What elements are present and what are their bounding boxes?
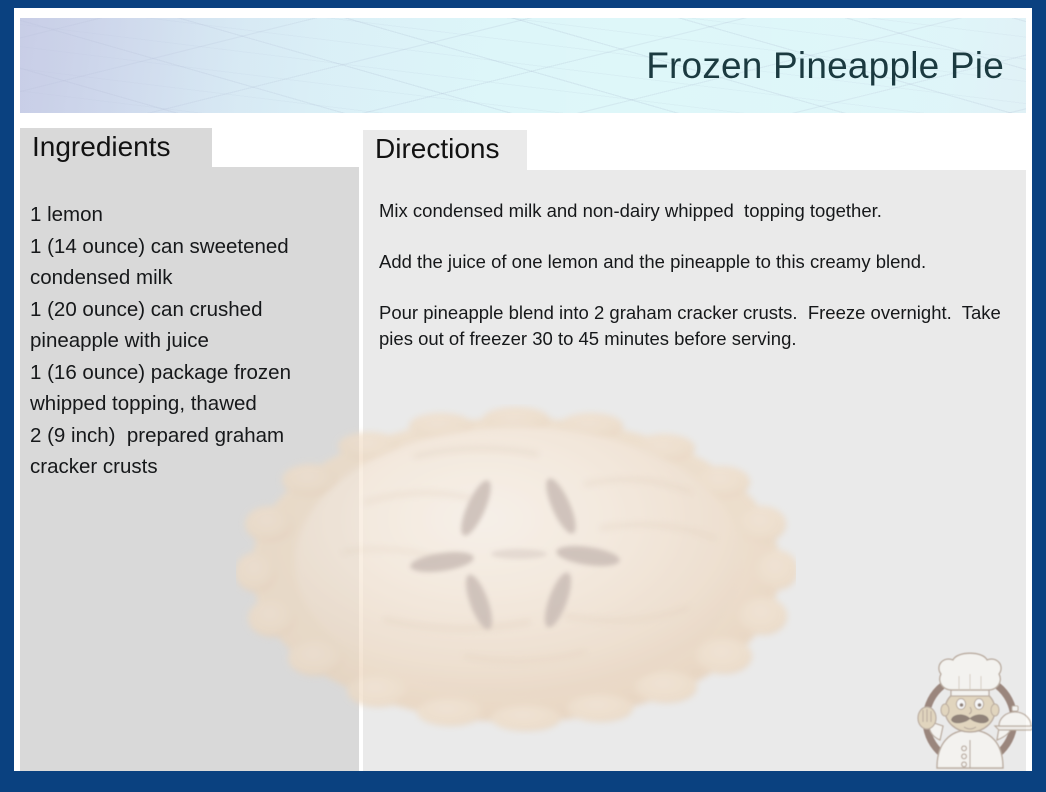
direction-step: Pour pineapple blend into 2 graham crack…: [379, 300, 1012, 352]
ingredients-panel: 1 lemon 1 (14 ounce) can sweetened conde…: [20, 167, 359, 771]
tab-ingredients[interactable]: Ingredients: [20, 128, 212, 168]
header-banner: Frozen Pineapple Pie: [20, 18, 1026, 113]
tab-directions[interactable]: Directions: [363, 130, 527, 171]
recipe-page: Frozen Pineapple Pie Ingredients 1 lemon…: [14, 8, 1032, 771]
direction-step: Mix condensed milk and non-dairy whipped…: [379, 198, 1012, 224]
page-title: Frozen Pineapple Pie: [646, 45, 1004, 87]
recipe-card: Frozen Pineapple Pie Ingredients 1 lemon…: [0, 0, 1046, 792]
directions-body: Mix condensed milk and non-dairy whipped…: [379, 198, 1012, 352]
ingredients-list: 1 lemon 1 (14 ounce) can sweetened conde…: [30, 199, 351, 483]
direction-step: Add the juice of one lemon and the pinea…: [379, 249, 1012, 275]
directions-panel: Mix condensed milk and non-dairy whipped…: [363, 170, 1026, 771]
